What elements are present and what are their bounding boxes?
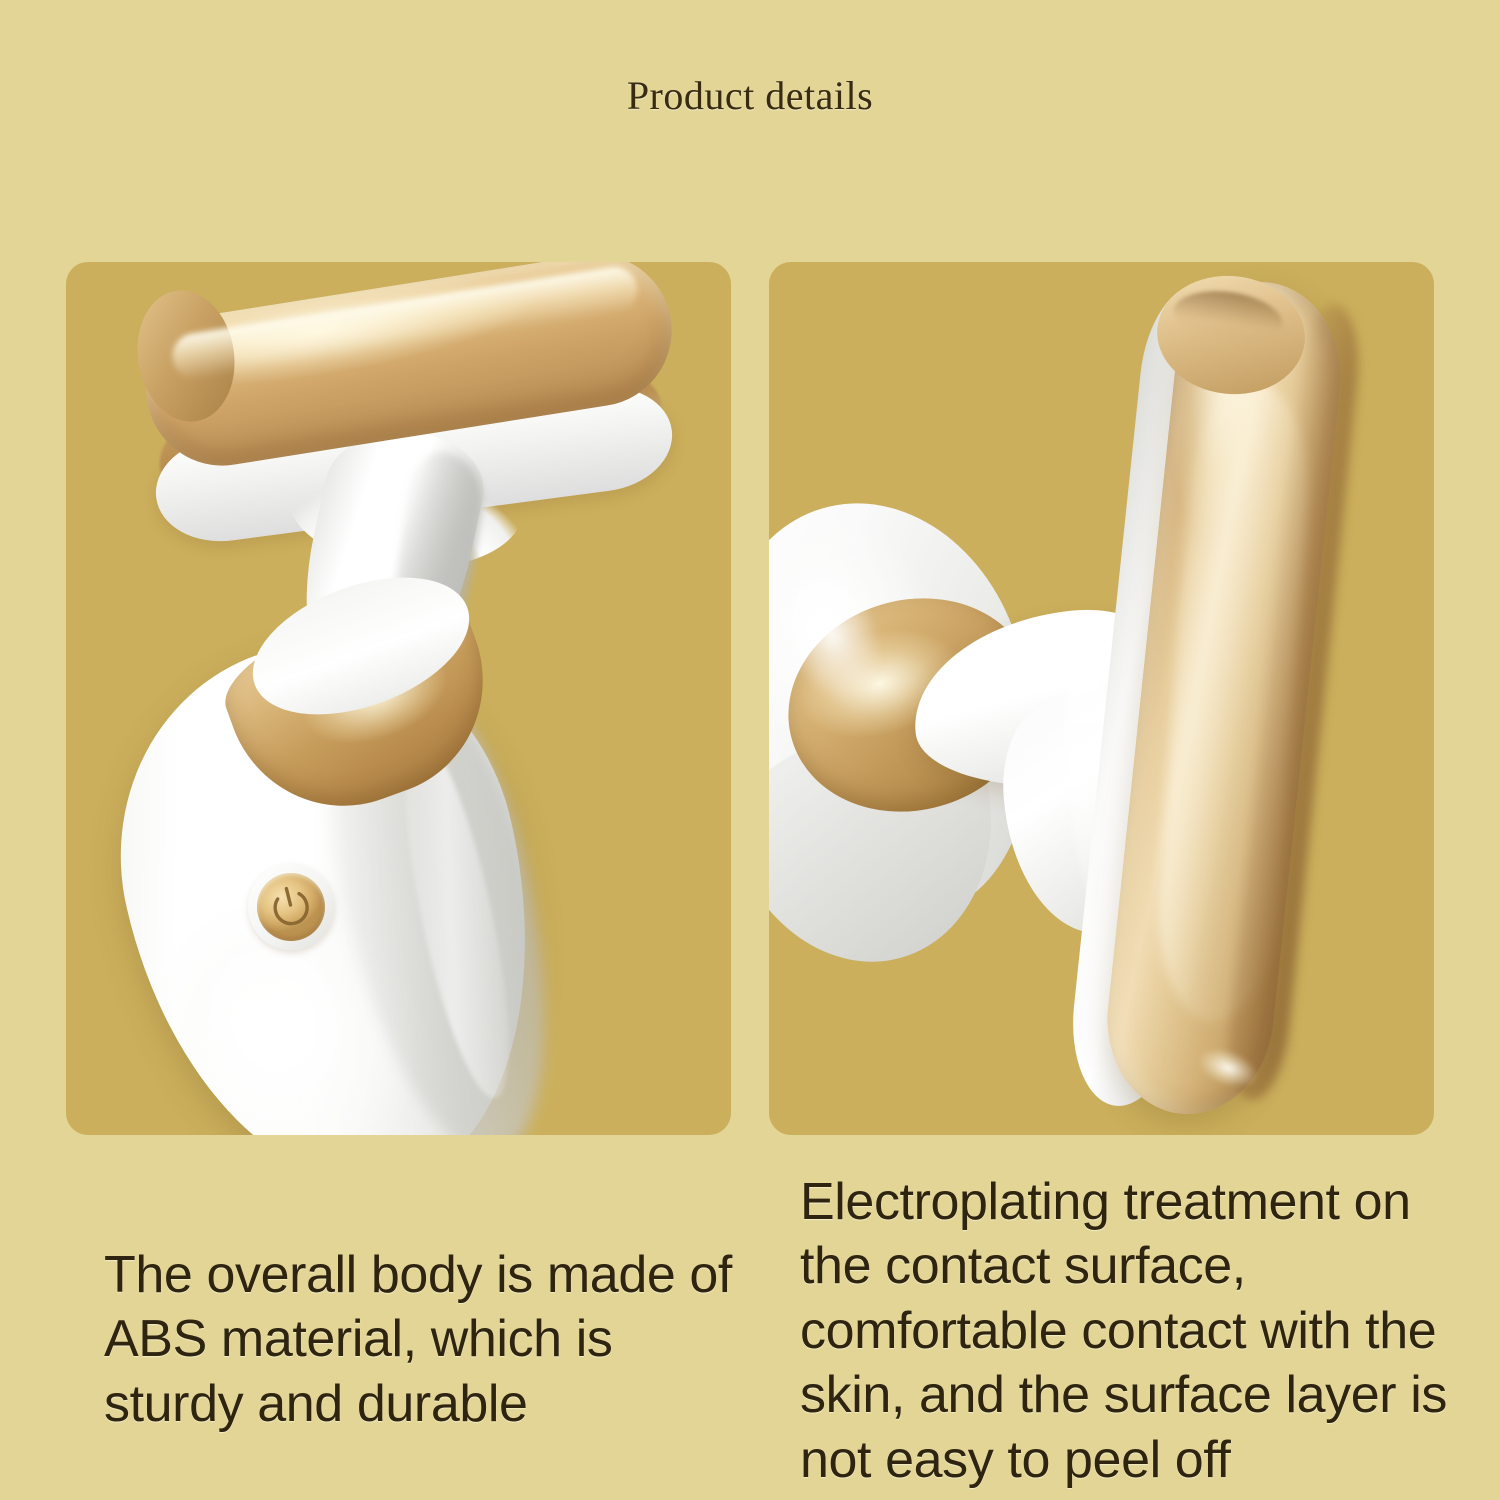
device-front-view-illustration	[66, 262, 731, 1135]
device-side-view-illustration	[769, 262, 1434, 1135]
product-image-panel-right	[769, 262, 1434, 1135]
caption-right: Electroplating treatment on the contact …	[800, 1170, 1460, 1492]
caption-left: The overall body is made of ABS material…	[104, 1243, 744, 1436]
page-title: Product details	[0, 72, 1500, 119]
product-image-panel-left	[66, 262, 731, 1135]
product-details-page: Product details	[0, 0, 1500, 1500]
